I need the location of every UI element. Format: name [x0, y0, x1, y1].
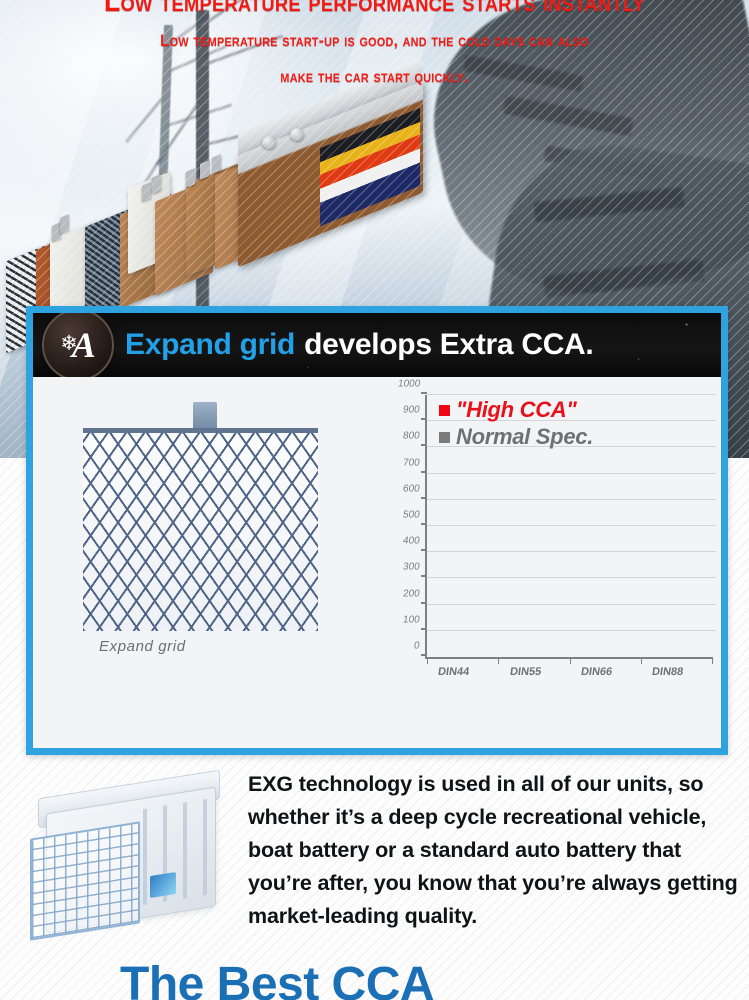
y-axis-label: 800	[403, 431, 421, 442]
chart-gridline	[427, 630, 716, 631]
chart-gridline	[427, 499, 716, 500]
grid-caption: Expand grid	[99, 638, 186, 655]
legend-swatch-normal-spec	[439, 432, 450, 443]
y-axis-tick	[421, 654, 427, 656]
y-axis-tick	[421, 628, 427, 630]
ghost-battery-image	[24, 778, 236, 946]
y-axis-tick	[421, 575, 427, 577]
chart-legend: "High CCA" Normal Spec.	[439, 397, 593, 451]
page-title: Low temperature performance starts insta…	[30, 0, 719, 19]
description-paragraph: EXG technology is used in all of our uni…	[248, 768, 746, 934]
y-axis-label: 400	[403, 536, 421, 547]
x-axis-label: DIN55	[509, 666, 542, 678]
hero-subtitle-line-2: make the car start quickly.	[37, 67, 711, 87]
legend-swatch-high-cca	[439, 405, 450, 416]
expand-grid-panel: ❄ A Expand grid develops Extra CCA. Expa…	[26, 306, 728, 755]
cca-bar-chart: "High CCA" Normal Spec. 0100200300400500…	[373, 391, 718, 701]
y-axis-tick	[421, 471, 427, 473]
panel-title-highlight: Expand grid	[125, 328, 295, 362]
chart-gridline	[427, 394, 716, 395]
y-axis-tick	[421, 602, 427, 604]
x-axis-tick	[498, 657, 499, 664]
legend-label-high-cca: "High CCA"	[456, 397, 577, 423]
x-axis-label: DIN44	[438, 666, 471, 678]
footer-heading: The Best CCA	[120, 957, 740, 1000]
legend-item-high-cca: "High CCA"	[439, 397, 593, 423]
hero-subtitle-line-1: Low temperature start-up is good, and th…	[37, 31, 711, 51]
panel-inner: ❄ A Expand grid develops Extra CCA. Expa…	[33, 313, 721, 748]
chart-gridline	[427, 551, 716, 552]
y-axis-tick	[421, 418, 427, 420]
y-axis-tick	[421, 549, 427, 551]
y-axis-label: 900	[403, 405, 421, 416]
y-axis-label: 1000	[397, 379, 421, 390]
x-axis-label: DIN88	[651, 666, 684, 678]
panel-body: Expand grid "High CCA" Normal Spec.	[33, 377, 721, 748]
legend-item-normal-spec: Normal Spec.	[439, 424, 593, 450]
panel-title-rest: develops Extra CCA.	[304, 328, 593, 362]
panel-header-bar: ❄ A Expand grid develops Extra CCA.	[33, 313, 721, 377]
ghost-battery-internal-grid	[30, 821, 140, 940]
x-axis-tick	[641, 657, 642, 664]
chart-gridline	[427, 473, 716, 474]
ghost-battery-logo	[150, 872, 176, 898]
expand-grid-figure: Expand grid	[73, 402, 338, 702]
panel-title: Expand grid develops Extra CCA.	[125, 321, 593, 369]
brand-letter-a: A	[72, 327, 96, 363]
y-axis-label: 200	[403, 588, 421, 599]
x-axis-tick	[570, 657, 571, 664]
y-axis-tick	[421, 523, 427, 525]
grid-mesh	[83, 428, 318, 631]
y-axis-label: 300	[403, 562, 421, 573]
y-axis-tick	[421, 497, 427, 499]
snowflake-logo-badge: ❄ A	[42, 313, 114, 377]
legend-label-normal-spec: Normal Spec.	[456, 424, 593, 450]
x-axis-tick	[712, 657, 713, 664]
y-axis-tick	[421, 444, 427, 446]
y-axis-label: 0	[414, 641, 421, 652]
promo-page: Low temperature performance starts insta…	[0, 0, 749, 1000]
chart-gridline	[427, 604, 716, 605]
x-axis-label: DIN66	[580, 666, 613, 678]
y-axis-label: 500	[403, 510, 421, 521]
y-axis-label: 100	[403, 614, 421, 625]
y-axis-label: 600	[403, 483, 421, 494]
x-axis-tick	[427, 657, 428, 664]
y-axis-tick	[421, 392, 427, 394]
chart-gridline	[427, 577, 716, 578]
y-axis-label: 700	[403, 457, 421, 468]
chart-gridline	[427, 525, 716, 526]
